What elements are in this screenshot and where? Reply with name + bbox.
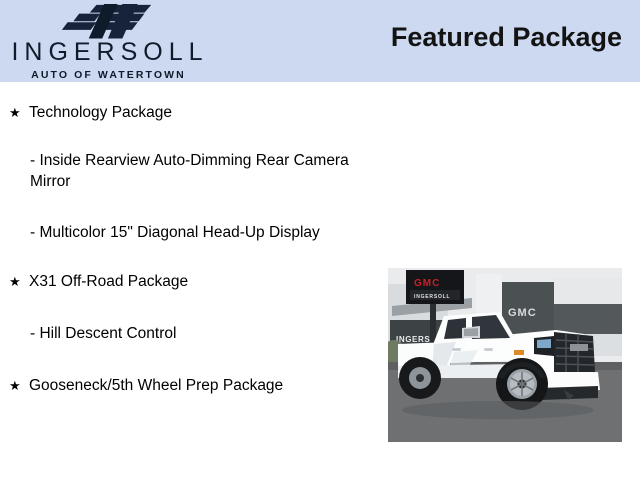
feature-heading: ★ Gooseneck/5th Wheel Prep Package <box>0 376 385 395</box>
svg-text:GMC: GMC <box>414 278 440 289</box>
dealer-logo: INGERSOLL AUTO OF WATERTOWN <box>4 2 210 80</box>
feature-block: ★ Technology Package - Inside Rearview A… <box>0 103 385 243</box>
feature-list: ★ Technology Package - Inside Rearview A… <box>0 82 385 395</box>
feature-sub-item: - Inside Rearview Auto-Dimming Rear Came… <box>0 150 385 192</box>
feature-sub-item: - Hill Descent Control <box>0 323 385 344</box>
star-bullet-icon: ★ <box>9 272 29 291</box>
dealer-name: INGERSOLL <box>5 40 208 65</box>
feature-label: X31 Off-Road Package <box>29 272 385 291</box>
feature-label: Gooseneck/5th Wheel Prep Package <box>29 376 385 395</box>
star-bullet-icon: ★ <box>9 103 29 122</box>
feature-heading: ★ Technology Package <box>0 103 385 122</box>
vehicle-photo: INGERSO GMC INGERSOLL GMC <box>388 268 622 442</box>
feature-block: ★ X31 Off-Road Package - Hill Descent Co… <box>0 272 385 344</box>
feature-label: Technology Package <box>29 103 385 122</box>
svg-text:GMC: GMC <box>508 307 537 319</box>
ingersoll-winged-if-emblem-icon <box>48 3 166 40</box>
page-title: Featured Package <box>391 22 622 53</box>
page-header: INGERSOLL AUTO OF WATERTOWN Featured Pac… <box>0 0 640 82</box>
feature-block: ★ Gooseneck/5th Wheel Prep Package <box>0 376 385 395</box>
page-content: ★ Technology Package - Inside Rearview A… <box>0 82 640 480</box>
feature-heading: ★ X31 Off-Road Package <box>0 272 385 291</box>
dealer-tagline: AUTO OF WATERTOWN <box>28 70 186 81</box>
feature-sub-item: - Multicolor 15" Diagonal Head-Up Displa… <box>0 222 385 243</box>
vehicle-photo-illustration: INGERSO GMC INGERSOLL GMC <box>388 268 622 442</box>
star-bullet-icon: ★ <box>9 376 29 395</box>
svg-text:INGERSOLL: INGERSOLL <box>414 294 450 300</box>
